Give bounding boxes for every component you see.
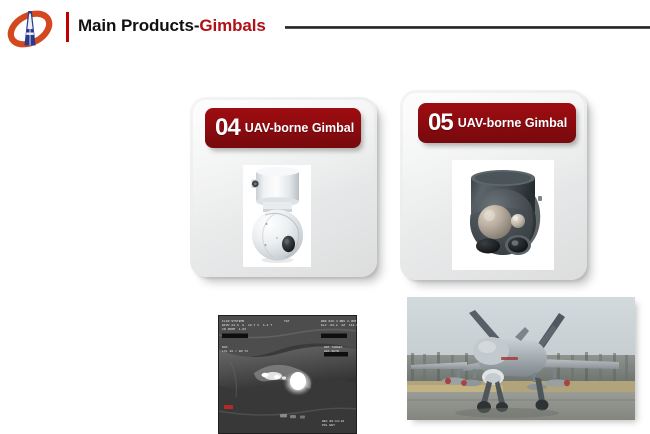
- company-logo-icon: [7, 7, 53, 51]
- thermal-hud-bottom-right: REC 00:14:22 POL WHT: [322, 419, 344, 427]
- page-title-prefix: Main Products-: [78, 16, 199, 35]
- badge-label-05: UAV-borne Gimbal: [458, 116, 568, 130]
- product-badge-04[interactable]: 04 UAV-borne Gimbal: [205, 108, 361, 148]
- title-accent-bar: [66, 12, 69, 42]
- thermal-hud-top-left: FLIR SYSTEMS WFOV 24.6 H 12.7 V 1.2 T IR…: [222, 319, 272, 331]
- badge-number-04: 04: [215, 116, 240, 140]
- slide-header: Main Products-Gimbals: [0, 0, 650, 58]
- thermal-hud-mid-left: NUC LVL 48 / GN 72: [222, 345, 248, 353]
- product-photo-05: [452, 160, 554, 270]
- header-horizontal-rule: [285, 26, 650, 29]
- thermal-hud-top-right: BRG 026.4 RNG 2.4KM ELV -03.2 AZ 114.6: [321, 319, 357, 327]
- product-badge-05[interactable]: 05 UAV-borne Gimbal: [418, 103, 576, 143]
- badge-number-05: 05: [428, 111, 453, 135]
- product-photo-04: [243, 165, 311, 267]
- military-uav-drone-on-runway-photo: [407, 297, 635, 420]
- slide-root: Main Products-Gimbals 04 UAV-borne Gimba…: [0, 0, 650, 434]
- thermal-infrared-surveillance-capture: FLIR SYSTEMS WFOV 24.6 H 12.7 V 1.2 T IR…: [218, 315, 357, 434]
- thermal-hud-mid-right: HOT TARGET AGC AUTO: [324, 345, 343, 353]
- thermal-hud-top-center: TGT: [284, 319, 290, 323]
- page-title-accent: Gimbals: [199, 16, 265, 35]
- page-title: Main Products-Gimbals: [78, 14, 266, 38]
- badge-label-04: UAV-borne Gimbal: [245, 121, 355, 135]
